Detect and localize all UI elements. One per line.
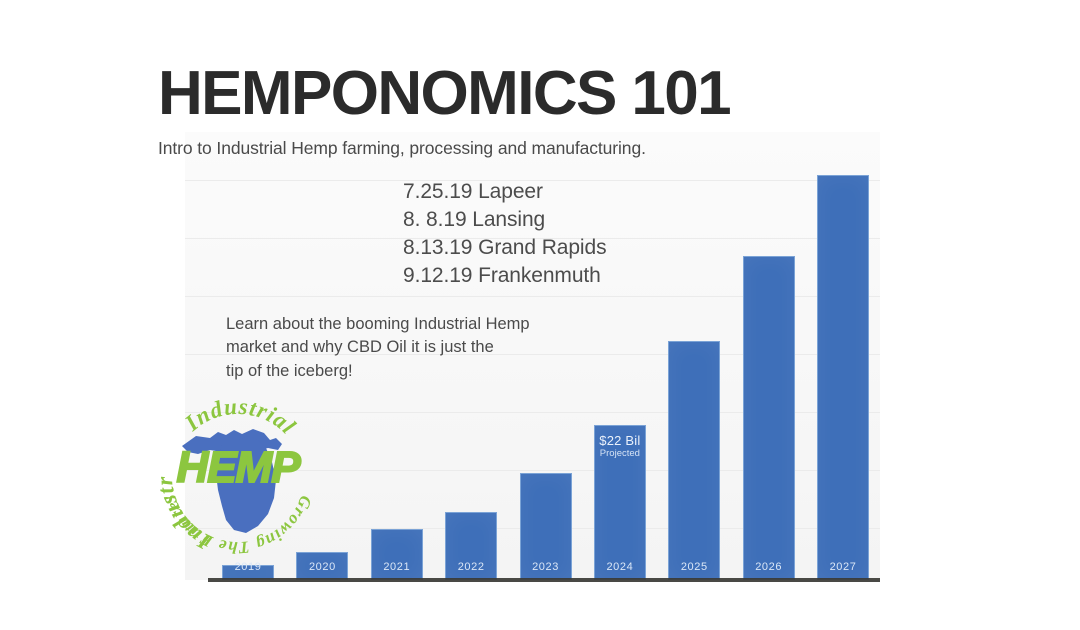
bar-2021[interactable]: 2021 bbox=[371, 529, 423, 580]
bar-2026[interactable]: 2026 bbox=[743, 256, 795, 580]
logo-svg: Industrial Industrial Growing The Future… bbox=[152, 388, 324, 560]
bar-year-label: 2019 bbox=[223, 561, 273, 573]
bar-year-label: 2023 bbox=[521, 561, 571, 573]
bar-annotation: $22 BilProjected bbox=[595, 434, 645, 460]
blurb-line: tip of the iceberg! bbox=[226, 360, 606, 383]
bar-year-label: 2022 bbox=[446, 561, 496, 573]
page-subtitle: Intro to Industrial Hemp farming, proces… bbox=[158, 138, 646, 159]
event-date-list: 7.25.19 Lapeer 8. 8.19 Lansing 8.13.19 G… bbox=[403, 178, 606, 290]
bar-year-label: 2024 bbox=[595, 561, 645, 573]
bar-2024[interactable]: $22 BilProjected2024 bbox=[594, 425, 646, 580]
blurb-line: market and why CBD Oil it is just the bbox=[226, 336, 606, 359]
logo-arc-top-text: Industrial bbox=[179, 394, 301, 439]
bar-2025[interactable]: 2025 bbox=[668, 341, 720, 580]
bar-2022[interactable]: 2022 bbox=[445, 512, 497, 580]
bar-2027[interactable]: 2027 bbox=[817, 175, 869, 580]
bar-year-label: 2025 bbox=[669, 561, 719, 573]
bar-year-label: 2020 bbox=[297, 561, 347, 573]
event-item: 7.25.19 Lapeer bbox=[403, 178, 606, 206]
bar-year-label: 2021 bbox=[372, 561, 422, 573]
x-axis-baseline bbox=[208, 578, 880, 582]
event-item: 8. 8.19 Lansing bbox=[403, 206, 606, 234]
bar-annotation-value: $22 Bil bbox=[595, 434, 645, 449]
page-title: HEMPONOMICS 101 bbox=[158, 63, 730, 125]
bar-year-label: 2026 bbox=[744, 561, 794, 573]
bar-2023[interactable]: 2023 bbox=[520, 473, 572, 580]
event-item: 8.13.19 Grand Rapids bbox=[403, 234, 606, 262]
bar-annotation-note: Projected bbox=[595, 449, 645, 460]
bar-year-label: 2027 bbox=[818, 561, 868, 573]
logo-wordmark: HEMP bbox=[176, 443, 301, 492]
industrial-hemp-logo: Industrial Industrial Growing The Future… bbox=[152, 388, 324, 560]
blurb-line: Learn about the booming Industrial Hemp bbox=[226, 313, 606, 336]
poster-canvas: 20192020202120222023$22 BilProjected2024… bbox=[0, 0, 1080, 630]
description-blurb: Learn about the booming Industrial Hemp … bbox=[226, 313, 606, 383]
event-item: 9.12.19 Frankenmuth bbox=[403, 262, 606, 290]
